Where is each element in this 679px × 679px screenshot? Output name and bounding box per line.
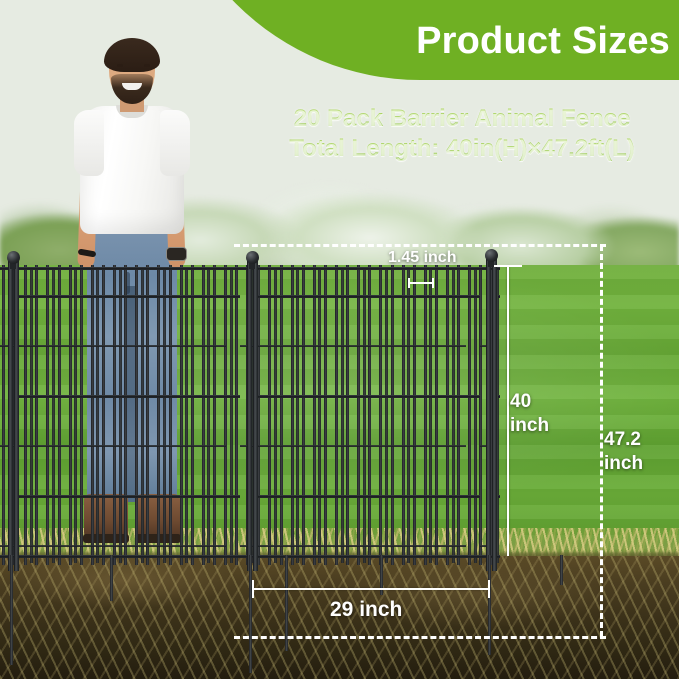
fence-vertical-bar: [357, 265, 360, 565]
fence-vertical-bar-back: [119, 267, 122, 563]
fence-ground-stake: [10, 555, 13, 665]
fence-vertical-bar: [202, 265, 205, 565]
total-height-unit: inch: [604, 452, 662, 476]
fence-vertical-bar: [135, 265, 138, 565]
fence-vertical-bar: [124, 265, 127, 565]
fence-vertical-bar: [335, 265, 338, 565]
fence-vertical-bar: [191, 265, 194, 565]
fence-vertical-bar: [402, 265, 405, 565]
fence-horizontal-rail: [240, 345, 466, 347]
above-ground-height-unit: inch: [510, 414, 556, 438]
fence-horizontal-rail: [498, 295, 500, 298]
fence-vertical-bar: [424, 265, 427, 565]
above-ground-measure-line: [507, 266, 509, 556]
fence-horizontal-rail: [498, 395, 500, 398]
fence-vertical-bar-back: [141, 267, 144, 563]
fence-vertical-bar: [280, 265, 283, 565]
fence-horizontal-rail: [258, 295, 480, 298]
panel-width-tick-right: [488, 580, 490, 598]
fence-vertical-bar-back: [385, 267, 388, 563]
fence-vertical-bar: [35, 265, 38, 565]
bottom-extension-dashed-line: [234, 636, 606, 639]
fence-post-cap: [7, 251, 20, 264]
fence-vertical-bar-back: [52, 267, 55, 563]
above-ground-height-value: 40: [510, 390, 556, 414]
subtitle-line-1: 20 Pack Barrier Animal Fence: [252, 104, 672, 134]
product-subtitle: 20 Pack Barrier Animal Fence Total Lengt…: [252, 104, 672, 164]
fence-vertical-bar-back: [274, 267, 277, 563]
fence-vertical-bar-back: [318, 267, 321, 563]
panel-width-label: 29 inch: [330, 598, 402, 622]
fence-ground-stake: [249, 555, 252, 673]
fence-vertical-bar: [113, 265, 116, 565]
fence-vertical-bar-back: [30, 267, 33, 563]
page-title: Product Sizes: [380, 17, 670, 65]
fence-post-cap: [485, 249, 498, 262]
fence-vertical-bar: [413, 265, 416, 565]
model-eye-left: [117, 64, 123, 67]
fence-vertical-bar: [91, 265, 94, 565]
top-extension-dashed-line: [234, 244, 606, 247]
fence-vertical-bar-back: [474, 267, 477, 563]
fence-post: [492, 259, 497, 571]
fence-vertical-bar-back: [230, 267, 233, 563]
fence-horizontal-rail: [240, 545, 466, 547]
fence-vertical-bar: [58, 265, 61, 565]
fence-horizontal-rail: [0, 445, 226, 447]
fence-vertical-bar: [468, 265, 471, 565]
model-hair: [104, 38, 160, 72]
model-sleeve-right: [160, 110, 190, 176]
above-ground-height-label: 40 inch: [510, 390, 556, 438]
fence-vertical-bar: [479, 265, 482, 565]
mesh-spacing-label: 1.45 inch: [388, 249, 456, 267]
fence-vertical-bar: [46, 265, 49, 565]
fence-horizontal-rail: [18, 395, 240, 398]
model-sleeve-left: [74, 110, 104, 176]
fence-vertical-bar: [24, 265, 27, 565]
fence-vertical-bar: [435, 265, 438, 565]
fence-vertical-bar-back: [185, 267, 188, 563]
fence-vertical-bar: [446, 265, 449, 565]
fence-vertical-bar: [80, 265, 83, 565]
fence-vertical-bar: [324, 265, 327, 565]
mesh-spacing-caliper: [408, 278, 434, 288]
fence-vertical-bar-back: [429, 267, 432, 563]
fence-vertical-bar: [235, 265, 238, 565]
fence-vertical-bar: [2, 265, 5, 565]
fence-vertical-bar: [346, 265, 349, 565]
fence-vertical-bar: [268, 265, 271, 565]
fence-horizontal-rail: [18, 295, 240, 298]
fence-vertical-bar: [379, 265, 382, 565]
fence-vertical-bar-back: [452, 267, 455, 563]
caliper-bar: [408, 282, 434, 284]
fence-post: [253, 259, 258, 571]
fence-vertical-bar: [302, 265, 305, 565]
caliper-end-left: [408, 278, 410, 288]
panel-width-tick-left: [252, 580, 254, 598]
fence-post: [14, 259, 19, 571]
caliper-end-right: [432, 278, 434, 288]
product-size-infographic: 1.45 inch 40 inch 47.2 inch 29 inch Prod…: [0, 0, 679, 679]
fence-vertical-bar: [291, 265, 294, 565]
fence-horizontal-rail: [18, 495, 240, 498]
fence-horizontal-rail: [258, 395, 480, 398]
panel-width-measure-line: [252, 588, 490, 590]
fence-vertical-bar-back: [296, 267, 299, 563]
fence-ground-stake: [110, 555, 113, 601]
total-height-label: 47.2 inch: [604, 428, 662, 476]
total-height-dashed-line: [600, 245, 603, 637]
fence-ground-stake: [488, 555, 491, 655]
fence-post: [8, 259, 13, 571]
fence-horizontal-rail: [258, 495, 480, 498]
fence-vertical-bar: [457, 265, 460, 565]
fence-vertical-bar: [391, 265, 394, 565]
fence-vertical-bar-back: [207, 267, 210, 563]
fence-vertical-bar-back: [163, 267, 166, 563]
fence-vertical-bar-back: [341, 267, 344, 563]
fence-horizontal-rail: [240, 445, 466, 447]
fence-vertical-bar: [69, 265, 72, 565]
fence-vertical-bar: [213, 265, 216, 565]
subtitle-line-2: Total Length: 40in(H)×47.2ft(L): [252, 134, 672, 164]
fence-vertical-bar: [157, 265, 160, 565]
model-eye-right: [144, 64, 150, 67]
fence-vertical-bar: [102, 265, 105, 565]
fence-vertical-bar: [180, 265, 183, 565]
fence-vertical-bar-back: [363, 267, 366, 563]
fence-assembly: [0, 255, 679, 585]
fence-vertical-bar-back: [74, 267, 77, 563]
fence-horizontal-rail: [0, 345, 226, 347]
fence-vertical-bar: [313, 265, 316, 565]
total-height-value: 47.2: [604, 428, 662, 452]
above-ground-tick-top: [494, 265, 522, 267]
fence-vertical-bar: [146, 265, 149, 565]
fence-horizontal-rail: [498, 495, 500, 498]
fence-post-cap: [246, 251, 259, 264]
fence-horizontal-rail: [0, 545, 226, 547]
fence-vertical-bar-back: [407, 267, 410, 563]
fence-vertical-bar: [169, 265, 172, 565]
fence-vertical-bar: [368, 265, 371, 565]
fence-vertical-bar-back: [96, 267, 99, 563]
fence-post: [247, 259, 252, 571]
fence-post: [486, 259, 491, 571]
fence-ground-stake: [560, 555, 563, 585]
fence-vertical-bar: [224, 265, 227, 565]
